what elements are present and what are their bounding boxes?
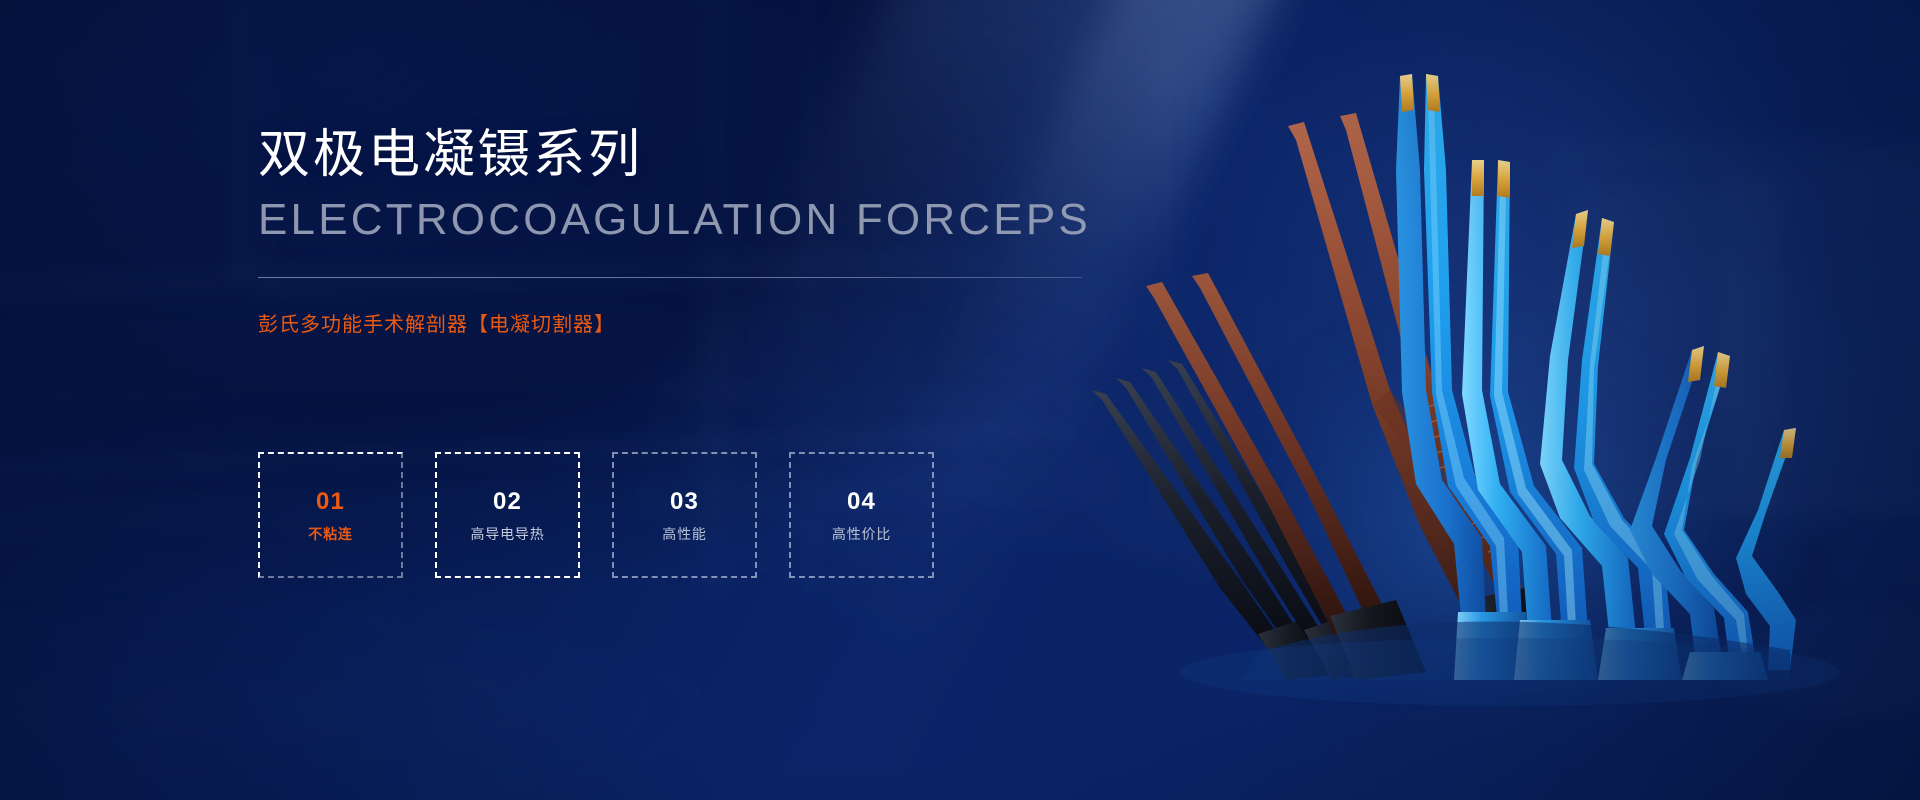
feature-number: 01 xyxy=(316,490,345,514)
feature-card-02[interactable]: 02 高导电导热 xyxy=(435,452,580,578)
banner-content: 双极电凝镊系列 ELECTROCOAGULATION FORCEPS 彭氏多功能… xyxy=(258,128,1158,337)
feature-card-03[interactable]: 03 高性能 xyxy=(612,452,757,578)
product-image-forceps xyxy=(1090,60,1810,680)
product-tagline: 彭氏多功能手术解剖器【电凝切割器】 xyxy=(258,308,1158,337)
feature-card-04[interactable]: 04 高性价比 xyxy=(789,452,934,578)
feature-number: 04 xyxy=(847,490,876,514)
page-subtitle-english: ELECTROCOAGULATION FORCEPS xyxy=(258,197,1158,243)
feature-list: 01 不粘连 02 高导电导热 03 高性能 04 高性价比 xyxy=(258,452,934,578)
feature-label: 不粘连 xyxy=(308,527,352,541)
bg-post-shape xyxy=(228,0,254,280)
feature-label: 高性价比 xyxy=(832,527,891,541)
page-title: 双极电凝镊系列 xyxy=(258,128,1158,183)
feature-number: 03 xyxy=(670,490,699,514)
feature-number: 02 xyxy=(493,490,522,514)
feature-label: 高导电导热 xyxy=(471,527,545,541)
product-banner: 双极电凝镊系列 ELECTROCOAGULATION FORCEPS 彭氏多功能… xyxy=(0,0,1920,800)
title-divider xyxy=(258,277,1082,278)
feature-card-01[interactable]: 01 不粘连 xyxy=(258,452,403,578)
bg-floor-glow xyxy=(0,580,860,800)
feature-label: 高性能 xyxy=(662,527,706,541)
